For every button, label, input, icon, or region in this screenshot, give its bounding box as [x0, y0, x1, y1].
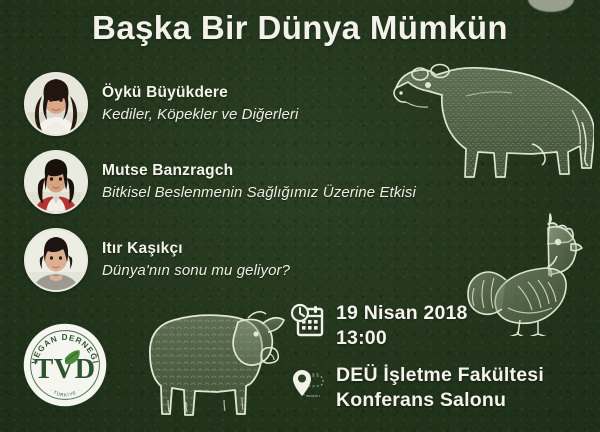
event-datetime-row: 19 Nisan 2018 13:00 — [288, 300, 544, 351]
event-datetime-lines: 19 Nisan 2018 13:00 — [336, 300, 468, 351]
location-pin-icon — [288, 364, 328, 404]
event-time: 13:00 — [336, 326, 468, 351]
speaker-name: Mutse Banzragch — [102, 161, 416, 180]
organization-logo: VEGAN DERNEĞİ · TÜRKİYE · TVD — [22, 322, 108, 408]
page-title: Başka Bir Dünya Mümkün — [0, 9, 600, 47]
event-location-row: DEÜ İşletme Fakültesi Konferans Salonu — [288, 362, 544, 413]
speaker-item: Itır Kaşıkçı Dünya'nın sonu mu geliyor? — [24, 224, 416, 296]
speaker-text: Öykü Büyükdere Kediler, Köpekler ve Diğe… — [102, 83, 298, 125]
avatar — [24, 72, 88, 136]
event-date: 19 Nisan 2018 — [336, 301, 468, 326]
speaker-item: Mutse Banzragch Bitkisel Beslenmenin Sağ… — [24, 146, 416, 218]
speaker-topic: Kediler, Köpekler ve Diğerleri — [102, 105, 298, 125]
calendar-clock-icon — [288, 302, 328, 342]
event-venue-lines: DEÜ İşletme Fakültesi Konferans Salonu — [336, 362, 544, 413]
speaker-name: Itır Kaşıkçı — [102, 239, 290, 258]
sheep-illustration — [120, 304, 300, 430]
speakers-list: Öykü Büyükdere Kediler, Köpekler ve Diğe… — [24, 68, 416, 302]
speaker-name: Öykü Büyükdere — [102, 83, 298, 102]
speaker-text: Mutse Banzragch Bitkisel Beslenmenin Sağ… — [102, 161, 416, 203]
speaker-topic: Bitkisel Beslenmenin Sağlığımız Üzerine … — [102, 183, 416, 203]
event-details: 19 Nisan 2018 13:00 DEÜ İşletme Fakültes… — [288, 300, 544, 424]
event-venue-line-2: Konferans Salonu — [336, 388, 544, 413]
avatar — [24, 228, 88, 292]
avatar — [24, 150, 88, 214]
speaker-topic: Dünya'nın sonu mu geliyor? — [102, 261, 290, 281]
event-venue-line-1: DEÜ İşletme Fakültesi — [336, 363, 544, 388]
speaker-item: Öykü Büyükdere Kediler, Köpekler ve Diğe… — [24, 68, 416, 140]
speaker-text: Itır Kaşıkçı Dünya'nın sonu mu geliyor? — [102, 239, 290, 281]
event-poster: Başka Bir Dünya Mümkün — [0, 0, 600, 432]
